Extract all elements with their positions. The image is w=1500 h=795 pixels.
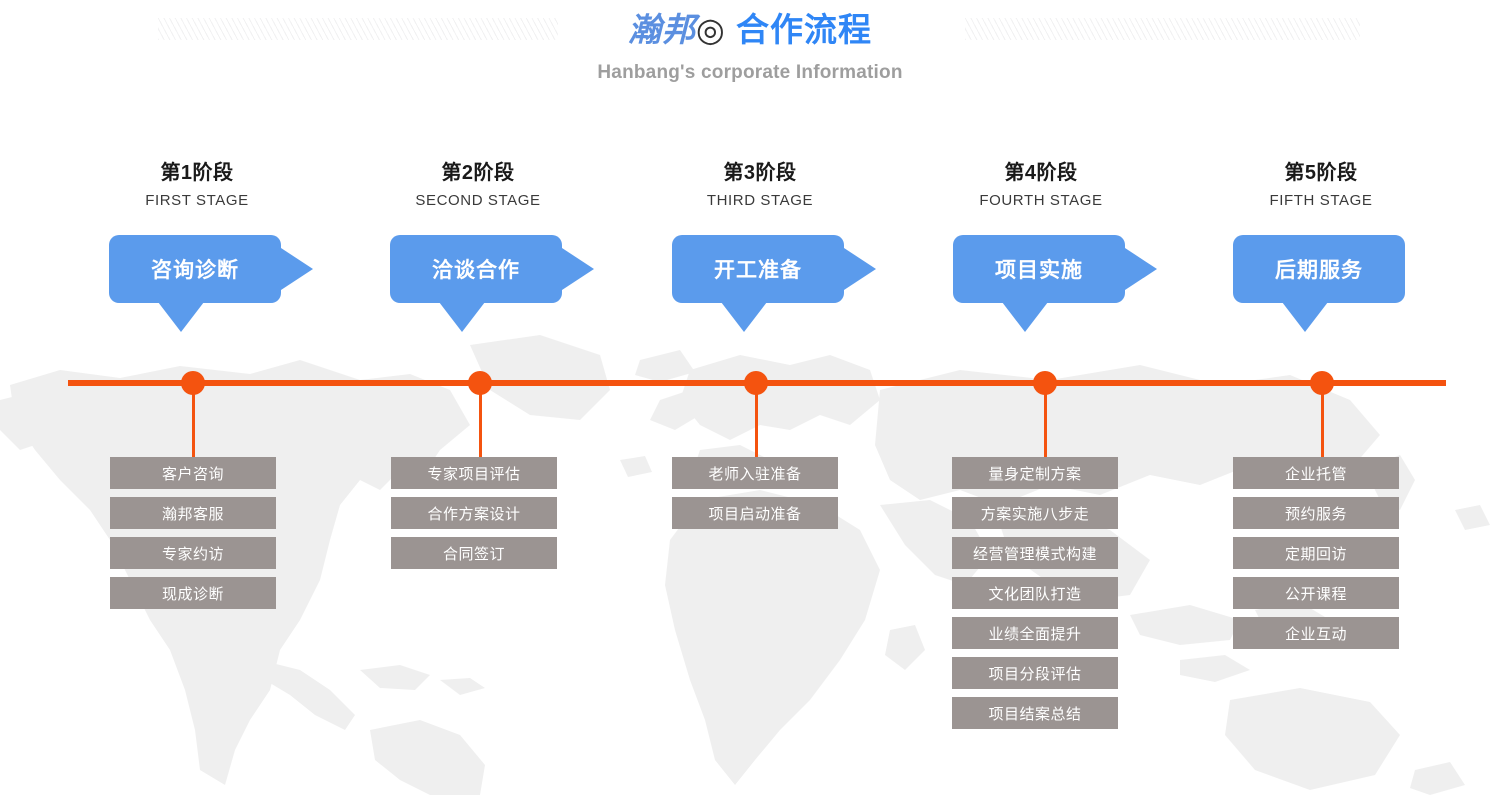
stage-bubble-label-1: 咨询诊断 <box>151 254 239 284</box>
item-label: 合同签订 <box>443 543 505 564</box>
stage-items-5: 企业托管 预约服务 定期回访 公开课程 企业互动 <box>1233 457 1399 657</box>
list-item[interactable]: 项目启动准备 <box>672 497 838 529</box>
stage-column-2: 第2阶段 SECOND STAGE 洽谈合作 <box>338 160 618 331</box>
item-label: 经营管理模式构建 <box>973 543 1097 564</box>
stage-header-5: 第5阶段 FIFTH STAGE <box>1181 160 1461 211</box>
item-label: 文化团队打造 <box>988 583 1081 604</box>
stage-column-3: 第3阶段 THIRD STAGE 开工准备 <box>620 160 900 331</box>
item-label: 公开课程 <box>1285 583 1347 604</box>
page-title-main: 合作流程 <box>736 11 872 48</box>
list-item[interactable]: 定期回访 <box>1233 537 1399 569</box>
stage-column-4: 第4阶段 FOURTH STAGE 项目实施 <box>901 160 1181 331</box>
bubble-arrow-right-icon-4 <box>1125 248 1157 290</box>
timeline-stem-2 <box>479 386 482 464</box>
stage-items-1: 客户咨询 瀚邦客服 专家约访 现成诊断 <box>110 457 276 617</box>
list-item[interactable]: 方案实施八步走 <box>952 497 1118 529</box>
stage-items-3: 老师入驻准备 项目启动准备 <box>672 457 838 537</box>
timeline-stem-3 <box>755 386 758 464</box>
stage-title-cn-2: 第2阶段 <box>338 160 618 186</box>
stage-bubble-label-2: 洽谈合作 <box>432 254 520 284</box>
list-item[interactable]: 项目分段评估 <box>952 657 1118 689</box>
bubble-tail-icon-5 <box>1282 302 1328 332</box>
stage-header-2: 第2阶段 SECOND STAGE <box>338 160 618 211</box>
ring-logo-icon: ◎ <box>696 11 726 48</box>
stage-bubble-2[interactable]: 洽谈合作 <box>390 235 562 303</box>
item-label: 瀚邦客服 <box>162 503 224 524</box>
stage-title-en-2: SECOND STAGE <box>338 191 618 211</box>
stage-bubble-1[interactable]: 咨询诊断 <box>109 235 281 303</box>
stage-header-4: 第4阶段 FOURTH STAGE <box>901 160 1181 211</box>
stage-header-3: 第3阶段 THIRD STAGE <box>620 160 900 211</box>
bubble-arrow-right-icon-2 <box>562 248 594 290</box>
stage-title-en-3: THIRD STAGE <box>620 191 900 211</box>
stage-title-cn-4: 第4阶段 <box>901 160 1181 186</box>
bubble-tail-icon-1 <box>158 302 204 332</box>
item-label: 项目结案总结 <box>988 703 1081 724</box>
list-item[interactable]: 瀚邦客服 <box>110 497 276 529</box>
list-item[interactable]: 专家项目评估 <box>391 457 557 489</box>
stage-title-en-4: FOURTH STAGE <box>901 191 1181 211</box>
list-item[interactable]: 文化团队打造 <box>952 577 1118 609</box>
list-item[interactable]: 企业托管 <box>1233 457 1399 489</box>
stage-items-2: 专家项目评估 合作方案设计 合同签订 <box>391 457 557 577</box>
list-item[interactable]: 预约服务 <box>1233 497 1399 529</box>
process-flow-infographic: 瀚邦◎ 合作流程 Hanbang's corporate Information <box>0 0 1500 795</box>
list-item[interactable]: 专家约访 <box>110 537 276 569</box>
list-item[interactable]: 合同签订 <box>391 537 557 569</box>
stage-bubble-4[interactable]: 项目实施 <box>953 235 1125 303</box>
timeline-stem-4 <box>1044 386 1047 464</box>
bubble-arrow-right-icon-1 <box>281 248 313 290</box>
stage-title-en-5: FIFTH STAGE <box>1181 191 1461 211</box>
stage-bubble-5[interactable]: 后期服务 <box>1233 235 1405 303</box>
list-item[interactable]: 公开课程 <box>1233 577 1399 609</box>
timeline-stem-1 <box>192 386 195 464</box>
list-item[interactable]: 量身定制方案 <box>952 457 1118 489</box>
list-item[interactable]: 项目结案总结 <box>952 697 1118 729</box>
stage-bubble-label-4: 项目实施 <box>995 254 1083 284</box>
stage-title-en-1: FIRST STAGE <box>57 191 337 211</box>
timeline-rail <box>68 380 1446 386</box>
bubble-tail-icon-4 <box>1002 302 1048 332</box>
list-item[interactable]: 老师入驻准备 <box>672 457 838 489</box>
page-subtitle: Hanbang's corporate Information <box>0 62 1500 84</box>
stage-bubble-label-5: 后期服务 <box>1275 254 1363 284</box>
stage-bubble-3[interactable]: 开工准备 <box>672 235 844 303</box>
item-label: 量身定制方案 <box>988 463 1081 484</box>
item-label: 项目分段评估 <box>988 663 1081 684</box>
item-label: 预约服务 <box>1285 503 1347 524</box>
bubble-arrow-right-icon-3 <box>844 248 876 290</box>
timeline-stem-5 <box>1321 386 1324 464</box>
stage-column-1: 第1阶段 FIRST STAGE 咨询诊断 <box>57 160 337 331</box>
brand-name: 瀚邦 <box>628 13 696 49</box>
list-item[interactable]: 经营管理模式构建 <box>952 537 1118 569</box>
item-label: 企业互动 <box>1285 623 1347 644</box>
item-label: 业绩全面提升 <box>988 623 1081 644</box>
list-item[interactable]: 现成诊断 <box>110 577 276 609</box>
bubble-tail-icon-3 <box>721 302 767 332</box>
item-label: 客户咨询 <box>162 463 224 484</box>
item-label: 合作方案设计 <box>427 503 520 524</box>
stage-column-5: 第5阶段 FIFTH STAGE 后期服务 <box>1181 160 1461 331</box>
list-item[interactable]: 企业互动 <box>1233 617 1399 649</box>
stage-items-4: 量身定制方案 方案实施八步走 经营管理模式构建 文化团队打造 业绩全面提升 项目… <box>952 457 1118 737</box>
list-item[interactable]: 业绩全面提升 <box>952 617 1118 649</box>
item-label: 现成诊断 <box>162 583 224 604</box>
stage-header-1: 第1阶段 FIRST STAGE <box>57 160 337 211</box>
stage-bubble-label-3: 开工准备 <box>714 254 802 284</box>
item-label: 专家约访 <box>162 543 224 564</box>
item-label: 方案实施八步走 <box>981 503 1090 524</box>
stage-title-cn-3: 第3阶段 <box>620 160 900 186</box>
list-item[interactable]: 客户咨询 <box>110 457 276 489</box>
page-header: 瀚邦◎ 合作流程 Hanbang's corporate Information <box>0 0 1500 110</box>
item-label: 老师入驻准备 <box>708 463 801 484</box>
item-label: 企业托管 <box>1285 463 1347 484</box>
page-title: 瀚邦◎ 合作流程 <box>0 8 1500 53</box>
stage-title-cn-5: 第5阶段 <box>1181 160 1461 186</box>
item-label: 项目启动准备 <box>708 503 801 524</box>
list-item[interactable]: 合作方案设计 <box>391 497 557 529</box>
stage-title-cn-1: 第1阶段 <box>57 160 337 186</box>
item-label: 定期回访 <box>1285 543 1347 564</box>
item-label: 专家项目评估 <box>427 463 520 484</box>
bubble-tail-icon-2 <box>439 302 485 332</box>
